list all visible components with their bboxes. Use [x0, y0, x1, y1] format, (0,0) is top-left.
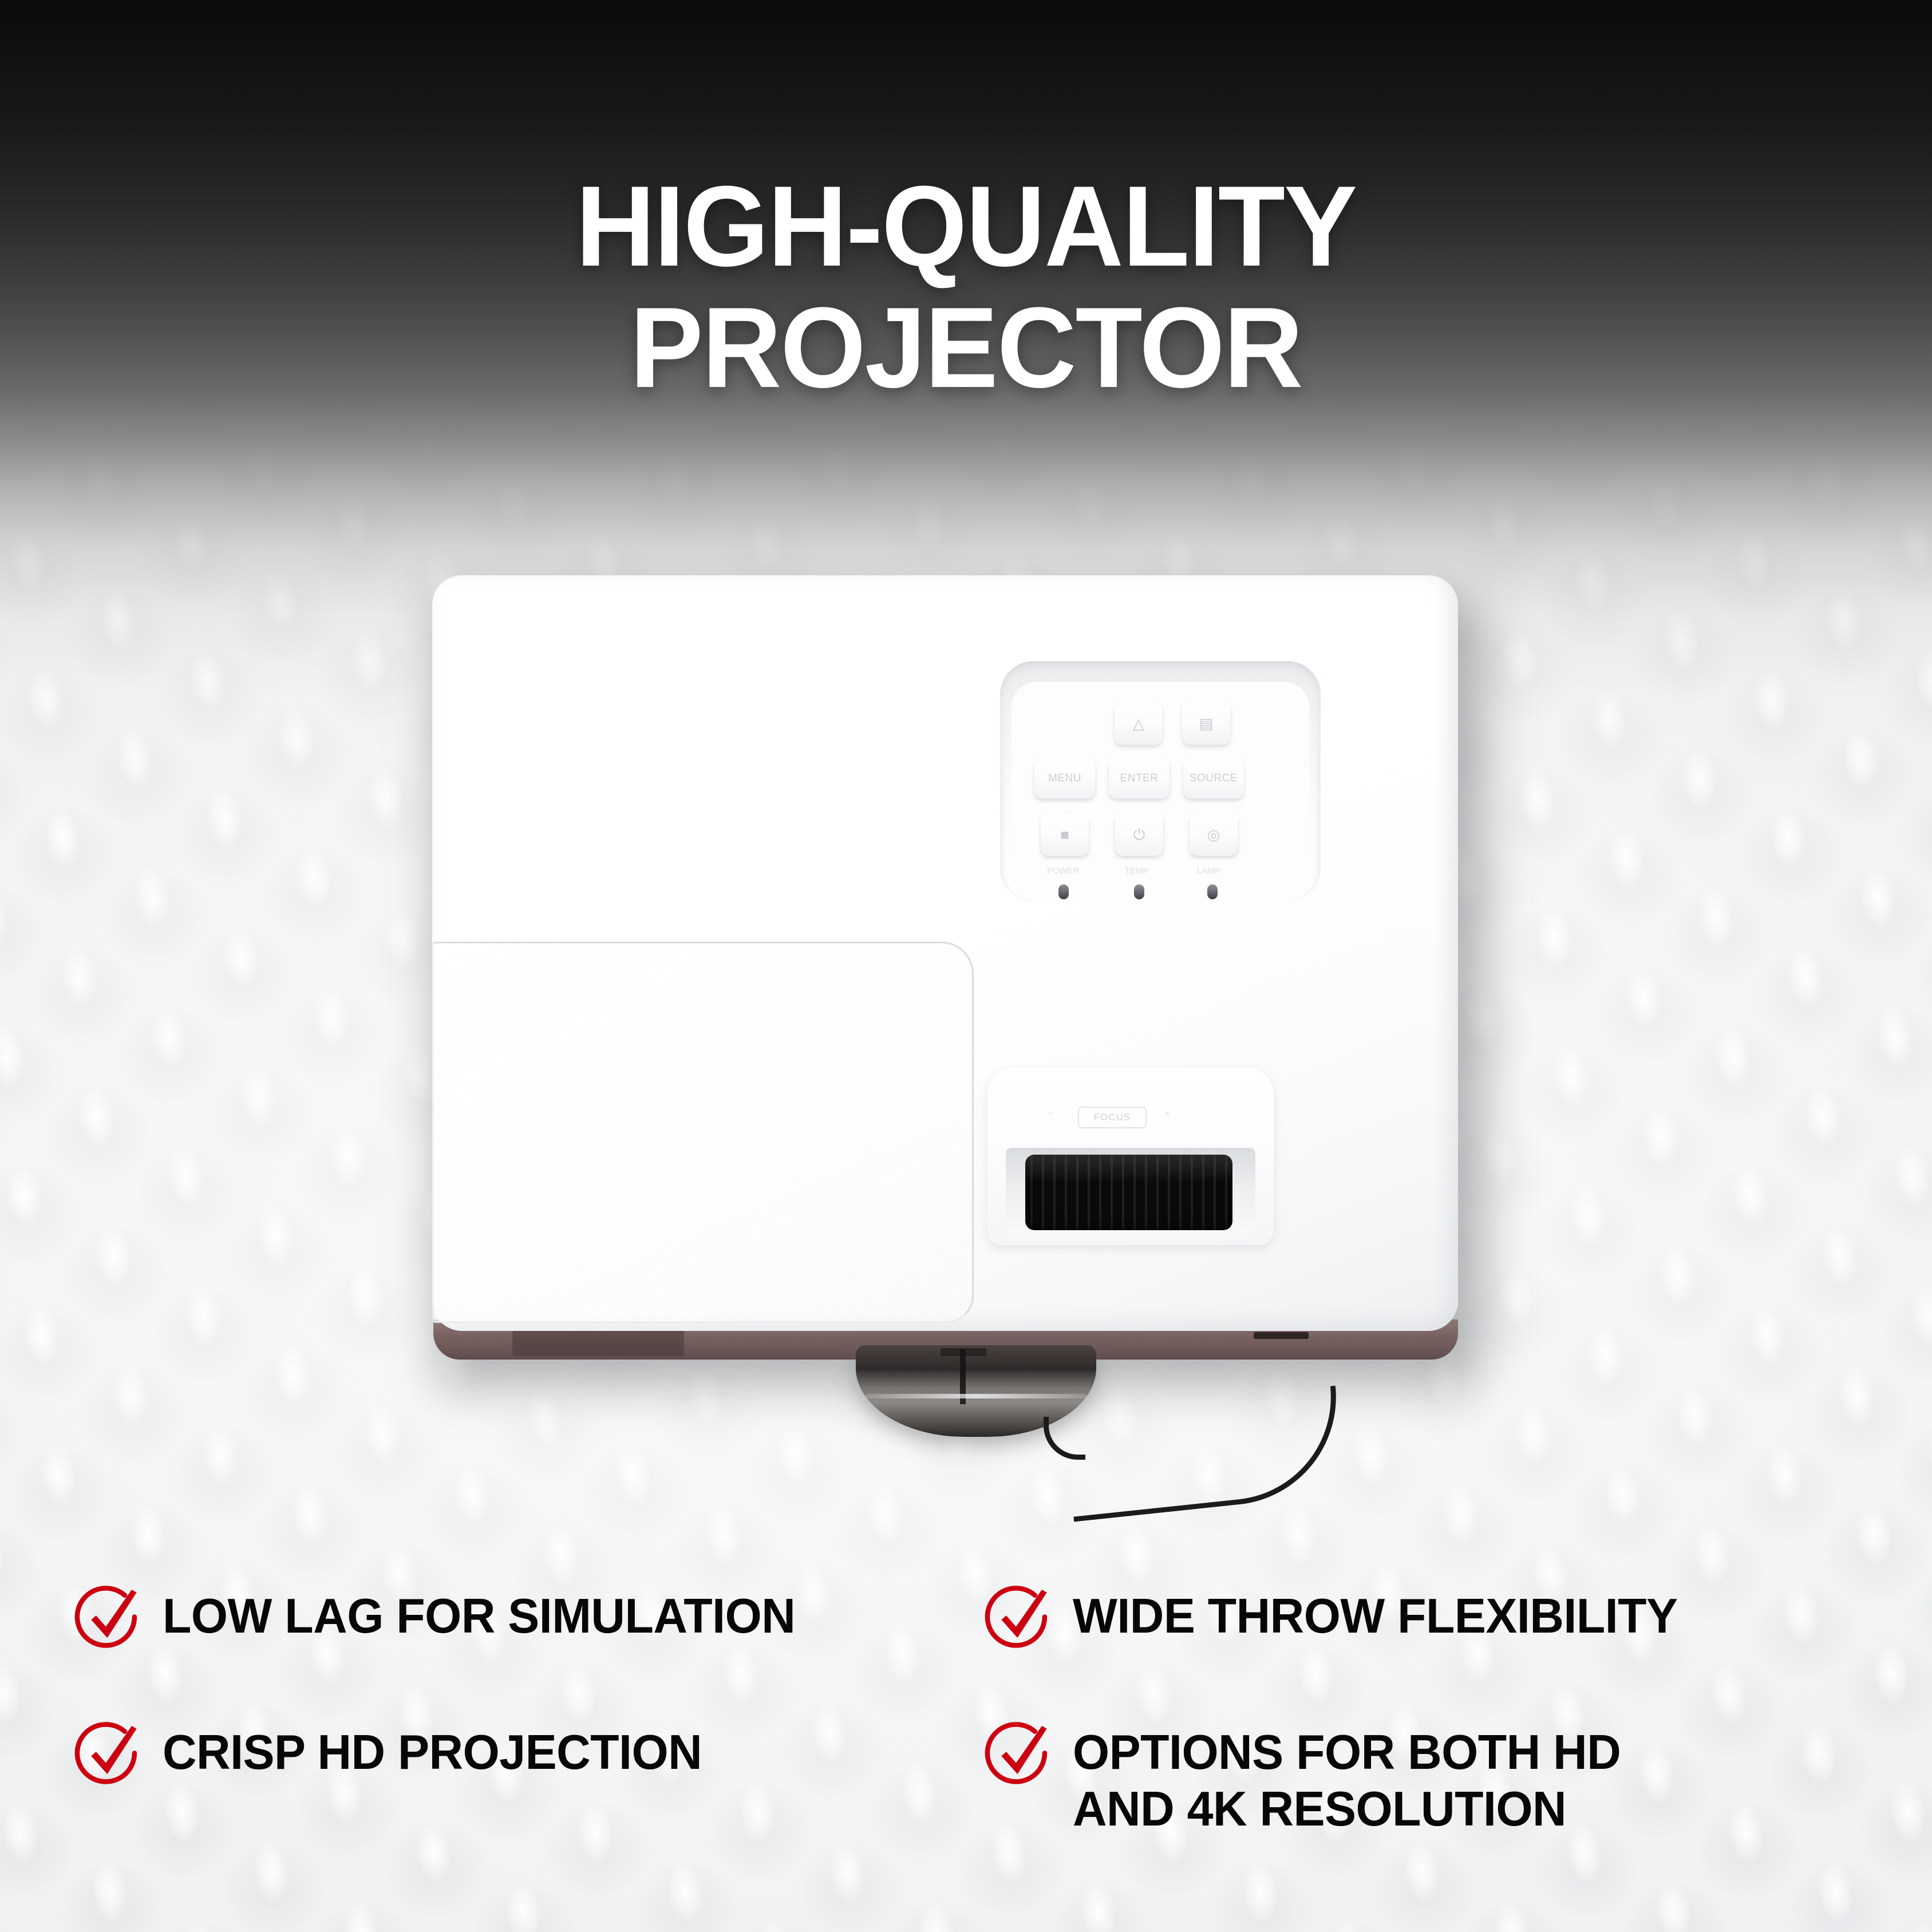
title-line-1: HIGH-QUALITY	[39, 166, 1894, 287]
aspect-button[interactable]: ▤	[1182, 702, 1230, 745]
feature-list: LOW LAG FOR SIMULATION WIDE THROW FLEXIB…	[74, 1580, 1860, 1838]
feature-label: CRISP HD PROJECTION	[163, 1716, 702, 1781]
product-promo-canvas: HIGH-QUALITY PROJECTOR △ ▤ MENU ENTER SO…	[0, 0, 1932, 1932]
check-circle-icon	[74, 1720, 144, 1789]
keystone-button[interactable]: △	[1115, 702, 1163, 745]
feature-label: OPTIONS FOR BOTH HD AND 4K RESOLUTION	[1073, 1716, 1621, 1838]
power-button[interactable]: ⏻	[1115, 813, 1163, 856]
lamp-led-label: LAMP	[1197, 866, 1220, 876]
check-circle-icon	[985, 1720, 1054, 1789]
wheel-gloss	[1025, 1155, 1232, 1182]
title-line-2: PROJECTOR	[39, 287, 1894, 409]
temp-led	[1134, 884, 1144, 899]
lamp-door-panel	[432, 942, 974, 1323]
lens-ring	[865, 1394, 1087, 1398]
source-button[interactable]: SOURCE	[1183, 758, 1244, 799]
projector-image: △ ▤ MENU ENTER SOURCE ■ ⏻ ◎ POWER TEMP L…	[421, 575, 1485, 1377]
feature-item: CRISP HD PROJECTION	[74, 1716, 950, 1838]
keystone-icon: △	[1133, 716, 1144, 731]
feature-label: LOW LAG FOR SIMULATION	[163, 1580, 795, 1645]
minus-mark: −	[1048, 1109, 1063, 1119]
source-button-label: SOURCE	[1190, 772, 1238, 785]
menu-button[interactable]: MENU	[1034, 758, 1095, 799]
feature-label: WIDE THROW FLEXIBILITY	[1073, 1580, 1678, 1645]
eco-button[interactable]: ◎	[1190, 813, 1238, 856]
blank-icon: ■	[1060, 827, 1069, 842]
check-circle-icon	[74, 1583, 144, 1653]
menu-button-label: MENU	[1048, 772, 1081, 785]
feature-item: LOW LAG FOR SIMULATION	[74, 1580, 950, 1653]
temp-led-label: TEMP	[1125, 866, 1149, 876]
feature-item: OPTIONS FOR BOTH HD AND 4K RESOLUTION	[985, 1716, 1860, 1838]
page-title: HIGH-QUALITY PROJECTOR	[0, 166, 1932, 409]
power-led	[1058, 884, 1069, 899]
power-led-label: POWER	[1047, 866, 1080, 876]
focus-badge: FOCUS	[1078, 1107, 1147, 1128]
enter-button[interactable]: ENTER	[1109, 758, 1170, 799]
projector-front-slot	[1254, 1332, 1309, 1339]
eco-icon: ◎	[1207, 827, 1220, 842]
plus-mark: +	[1165, 1109, 1180, 1119]
enter-button-label: ENTER	[1120, 772, 1159, 785]
check-circle-icon	[985, 1583, 1054, 1653]
blank-button[interactable]: ■	[1041, 813, 1089, 856]
feature-item: WIDE THROW FLEXIBILITY	[985, 1580, 1860, 1653]
power-icon: ⏻	[1133, 827, 1145, 842]
lamp-led	[1207, 884, 1218, 899]
aspect-icon: ▤	[1199, 716, 1214, 731]
focus-badge-label: FOCUS	[1094, 1112, 1131, 1123]
